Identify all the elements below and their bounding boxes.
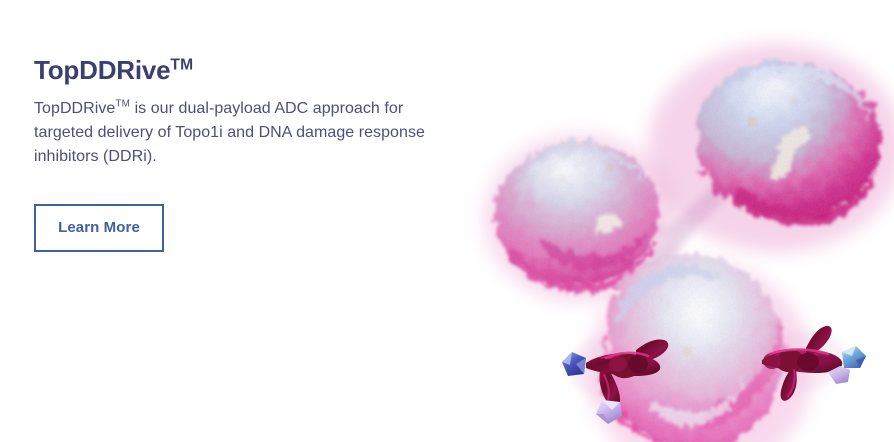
trademark-superscript: TM xyxy=(170,56,193,73)
hero-section: TopDDRiveTM TopDDRiveTM is our dual-payl… xyxy=(0,0,894,442)
trademark-superscript-body: TM xyxy=(115,99,130,110)
antibody-drug-conjugate-illustration xyxy=(450,0,894,442)
hero-description: TopDDRiveTM is our dual-payload ADC appr… xyxy=(34,97,446,169)
page-title: TopDDRiveTM xyxy=(34,54,193,86)
hero-text-column: TopDDRiveTM TopDDRiveTM is our dual-payl… xyxy=(34,0,454,442)
page-title-text: TopDDRive xyxy=(34,55,170,85)
learn-more-button[interactable]: Learn More xyxy=(34,204,164,252)
hero-description-brand: TopDDRive xyxy=(34,100,115,117)
